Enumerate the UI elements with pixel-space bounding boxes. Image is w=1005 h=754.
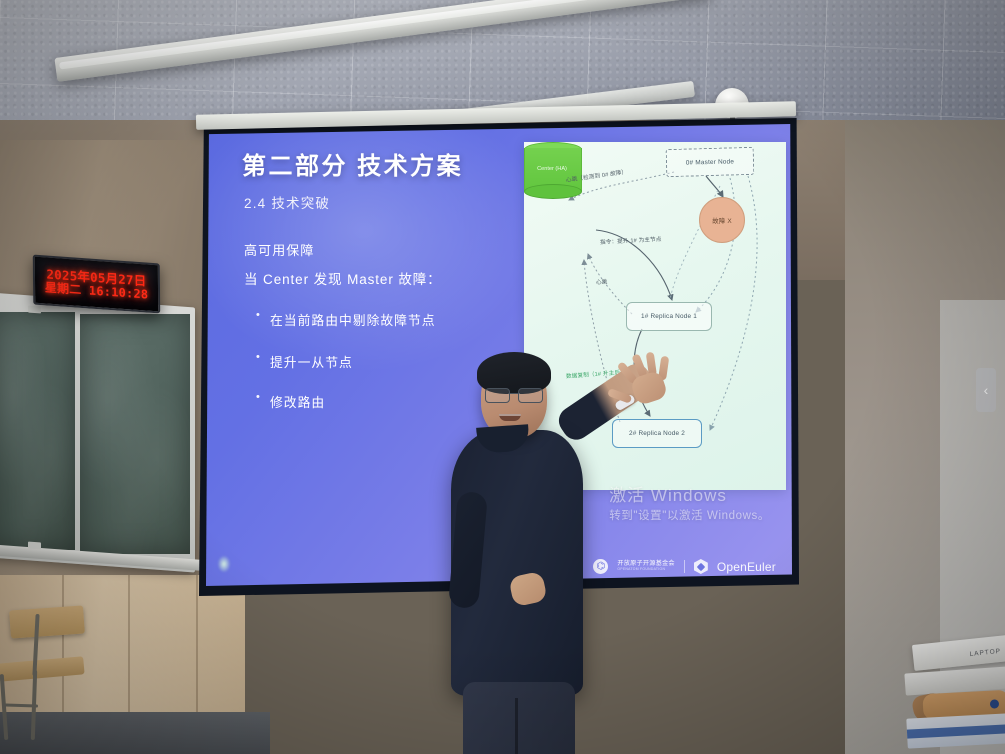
equipment-box-stack: LAPTOP: [903, 636, 1005, 754]
diagram-node-replica1: 1# Replica Node 1: [626, 302, 712, 331]
chair-backrest: [9, 605, 85, 638]
diagram-label-heartbeat: 心跳: [596, 278, 608, 286]
presenter: [415, 352, 645, 754]
chalkboard-panel-left: [0, 312, 75, 550]
chair-seat: [0, 656, 85, 681]
presenter-legs: [463, 682, 575, 754]
presenter-hand: [625, 360, 671, 404]
slide-bullet: 在当前路由中剔除故障节点: [270, 310, 436, 329]
openeuler-logo-icon: [694, 559, 708, 574]
glasses-icon: [485, 388, 543, 401]
laptop-box-label: LAPTOP: [969, 648, 1001, 658]
slide-heading: 高可用保障: [244, 240, 315, 259]
openeuler-logo-text: OpenEuler: [717, 560, 776, 574]
chalkboard-clip: [28, 306, 41, 314]
projector-hotspot: [218, 556, 230, 572]
diagram-node-master: 0# Master Node: [666, 147, 755, 177]
blue-printed-box: [906, 713, 1005, 748]
slide-title: 第二部分 技术方案: [242, 146, 463, 181]
diagram-node-fault: 故障 X: [699, 197, 745, 243]
classroom-photo: 2025年05月27日 星期二 16:10:28 第二部分 技术方案 2.4 技…: [0, 0, 1005, 754]
laptop-box: LAPTOP: [912, 635, 1005, 671]
slide-bullet: 提升一从节点: [270, 352, 353, 371]
led-clock-display: 2025年05月27日 星期二 16:10:28: [33, 255, 161, 314]
chalkboard-panel-right: [80, 314, 190, 554]
classroom-chair: [4, 608, 98, 754]
logo-divider: [684, 560, 685, 573]
chalkboard-clip: [28, 542, 41, 550]
diagram-node-center: Center (HA): [524, 142, 580, 196]
slide-bullet: 修改路由: [270, 392, 325, 411]
slide-lead-text: 当 Center 发现 Master 故障：: [244, 268, 442, 288]
presenter-mouth: [499, 414, 521, 421]
slide-section-label: 2.4 技术突破: [244, 192, 330, 212]
diagram-node-center-label: Center (HA): [524, 166, 580, 172]
chevron-left-icon[interactable]: ‹: [976, 368, 996, 412]
